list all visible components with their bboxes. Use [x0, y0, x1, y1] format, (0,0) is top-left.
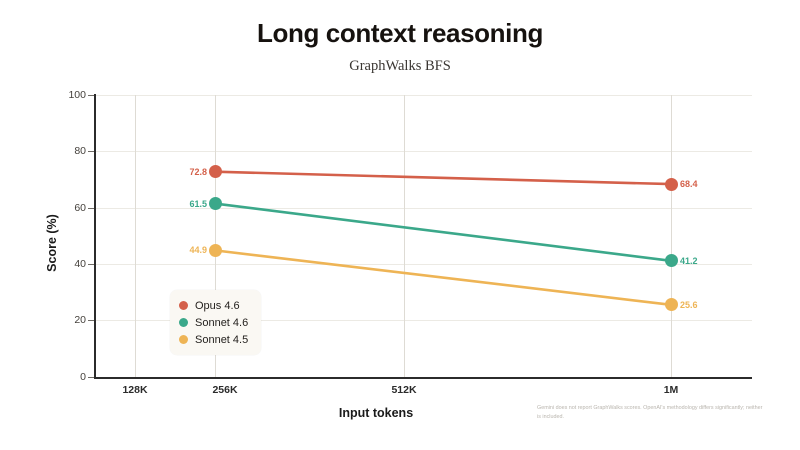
chart-footnote: Gemini does not report GraphWalks scores… [537, 404, 765, 423]
y-axis-label: Score (%) [45, 183, 59, 303]
legend-item-sonnet-45[interactable]: Sonnet 4.5 [179, 331, 248, 348]
y-tick-mark [88, 208, 94, 209]
data-point-label: 72.8 [189, 167, 215, 177]
chart-subtitle: GraphWalks BFS [0, 58, 800, 75]
x-tick-label: 512K [359, 384, 449, 396]
x-tick-label: 256K [180, 384, 270, 396]
y-tick-mark [88, 151, 94, 152]
legend-item-label: Sonnet 4.6 [195, 317, 248, 329]
legend-item-label: Sonnet 4.5 [195, 334, 248, 346]
y-tick-mark [88, 377, 94, 378]
legend-color-swatch-icon [179, 335, 188, 344]
y-tick-mark [88, 264, 94, 265]
chart-legend: Opus 4.6 Sonnet 4.6 Sonnet 4.5 [170, 290, 261, 355]
y-tick-label: 80 [40, 145, 86, 157]
data-point-label: 41.2 [671, 256, 698, 266]
data-point-label: 44.9 [189, 245, 215, 255]
legend-item-opus-46[interactable]: Opus 4.6 [179, 297, 248, 314]
y-tick-label: 20 [40, 314, 86, 326]
data-point-label: 25.6 [671, 300, 698, 310]
data-point-label: 68.4 [671, 179, 698, 189]
legend-color-swatch-icon [179, 318, 188, 327]
line-sonnet-46 [215, 204, 671, 261]
legend-item-label: Opus 4.6 [195, 300, 240, 312]
line-opus-46 [215, 172, 671, 184]
y-tick-mark [88, 320, 94, 321]
y-tick-label: 100 [40, 89, 86, 101]
data-point-label: 61.5 [189, 199, 215, 209]
x-tick-label: 128K [90, 384, 180, 396]
chart-title: Long context reasoning [0, 18, 800, 49]
x-tick-label: 1M [626, 384, 716, 396]
line-sonnet-45 [215, 250, 671, 304]
x-axis-spine [94, 377, 752, 379]
y-tick-mark [88, 95, 94, 96]
legend-color-swatch-icon [179, 301, 188, 310]
y-tick-label: 0 [40, 371, 86, 383]
legend-item-sonnet-46[interactable]: Sonnet 4.6 [179, 314, 248, 331]
chart-figure: Long context reasoning GraphWalks BFS 0 … [0, 0, 800, 450]
